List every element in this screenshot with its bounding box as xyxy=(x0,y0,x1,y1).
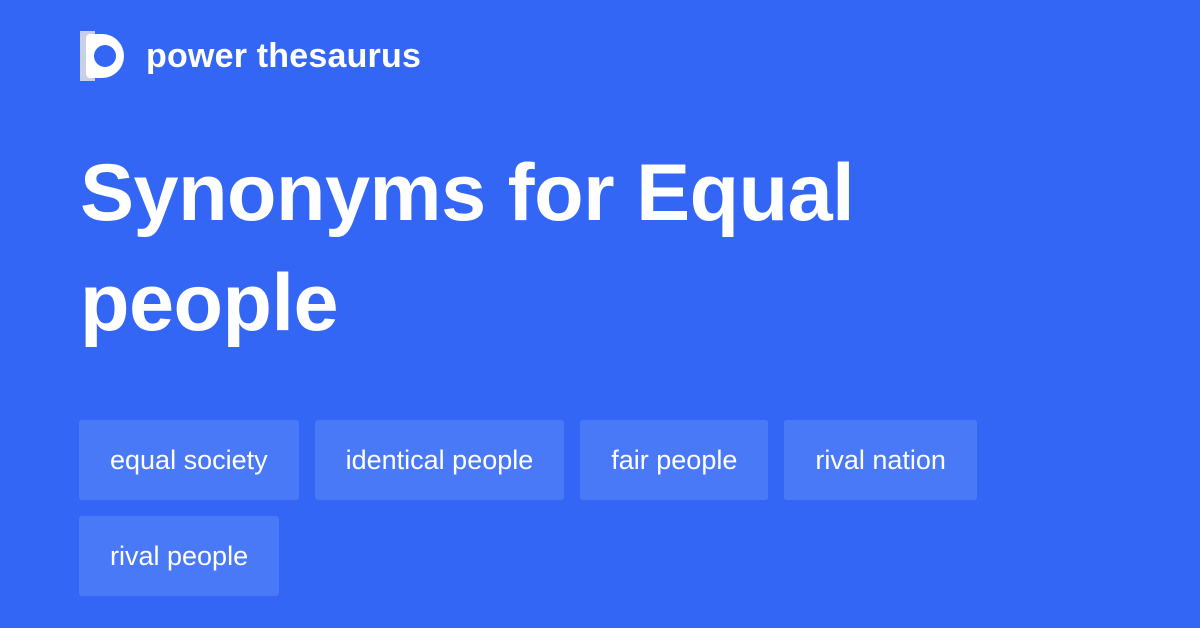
page-title: Synonyms for Equal people xyxy=(80,138,1120,358)
synonyms-share-card: power thesaurus Synonyms for Equal peopl… xyxy=(0,0,1200,628)
synonym-tag[interactable]: identical people xyxy=(315,420,565,500)
synonym-tag[interactable]: fair people xyxy=(580,420,768,500)
brand-logo[interactable]: power thesaurus xyxy=(80,28,421,84)
logo-counter-shape xyxy=(94,45,116,67)
power-thesaurus-b-logo-icon xyxy=(80,31,124,81)
synonym-tag-list: equal society identical people fair peop… xyxy=(79,420,1129,596)
synonym-tag[interactable]: equal society xyxy=(79,420,299,500)
synonym-tag[interactable]: rival nation xyxy=(784,420,977,500)
brand-name: power thesaurus xyxy=(146,39,421,73)
synonym-tag[interactable]: rival people xyxy=(79,516,279,596)
